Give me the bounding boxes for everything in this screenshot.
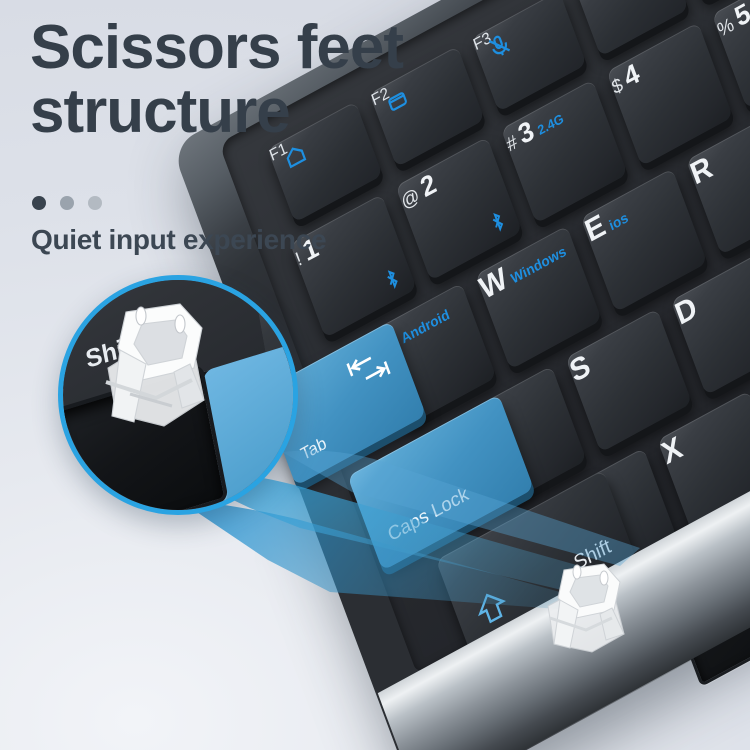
headline-block: Scissors feet structure (30, 16, 590, 144)
tab-arrows-icon (341, 339, 399, 396)
key-4-shift: $ (609, 74, 626, 99)
headline-line-2: structure (30, 80, 590, 144)
key-2-main: 2 (416, 168, 440, 204)
key-2-shift: @ (398, 185, 422, 214)
progress-dot-3[interactable] (88, 196, 102, 210)
bluetooth-icon (380, 265, 405, 293)
scissor-switch-mechanism-small (520, 548, 640, 668)
key-e-blue-label: ios (607, 209, 630, 234)
subtitle: Quiet input experience (31, 224, 326, 256)
key-e-main: E (581, 208, 610, 249)
key-x-main: X (657, 431, 686, 472)
key-5-shift: % (715, 14, 737, 42)
scissor-switch-mechanism-large (86, 294, 216, 444)
progress-dot-2[interactable] (60, 196, 74, 210)
headline-line-1: Scissors feet (30, 16, 590, 80)
key-tab-label: Tab (298, 433, 329, 465)
bluetooth-icon (485, 208, 510, 236)
progress-dot-1[interactable] (32, 196, 46, 210)
key-s-main: S (565, 348, 594, 389)
product-marketing-banner: F1 F2 F3 (0, 0, 750, 750)
key-4-main: 4 (620, 57, 644, 93)
search-icon (587, 0, 617, 7)
key-q-blue-label: Android (399, 306, 452, 347)
progress-dots (32, 196, 102, 210)
